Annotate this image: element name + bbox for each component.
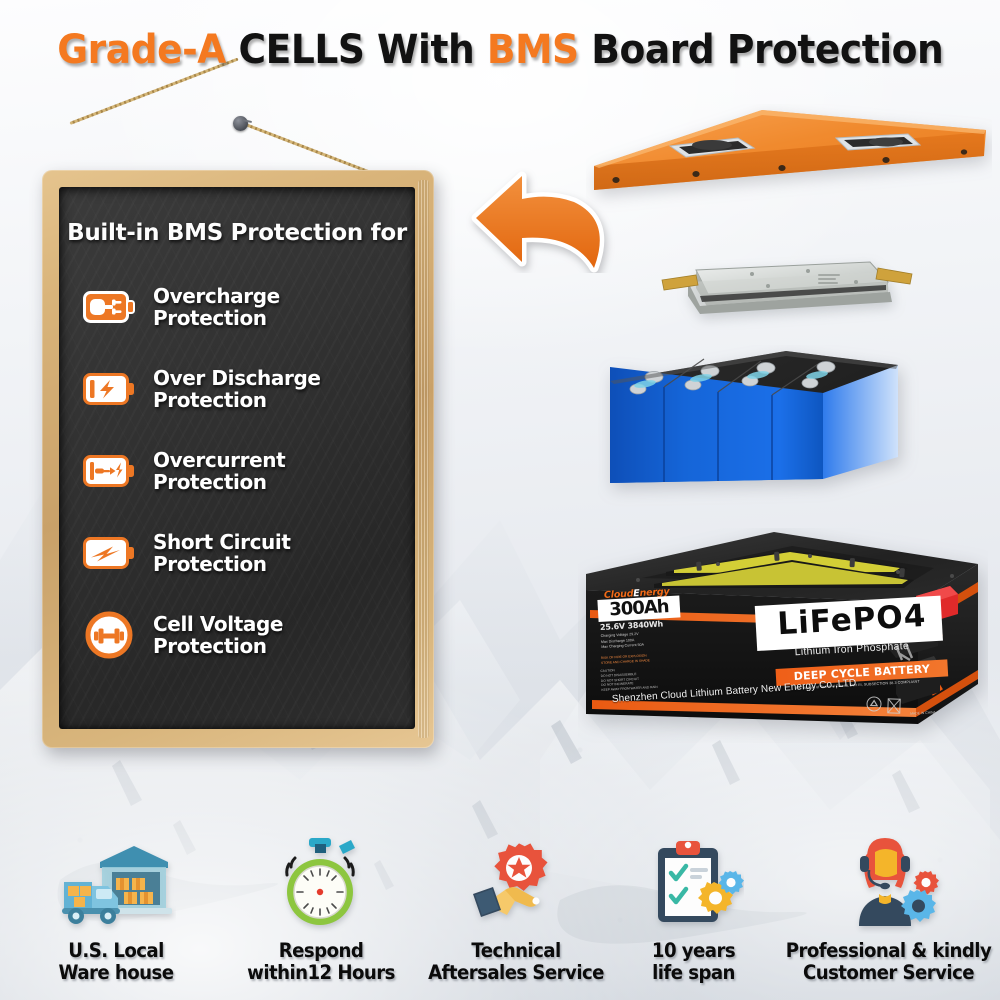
battery-capacity-value: 300Ah xyxy=(609,598,669,619)
protection-item-over-discharge: Over Discharge Protection xyxy=(59,348,415,430)
orange-bms-heatsink-plate xyxy=(586,104,992,214)
bottom-feature-warehouse: U.S. Local Ware house xyxy=(6,824,226,984)
battery-current-icon xyxy=(81,455,137,487)
bottom-feature-label: Respond within12 Hours xyxy=(233,940,410,984)
battery-bolt-icon xyxy=(81,373,137,405)
page-title: Grade-A CELLS With BMS Board Protection xyxy=(0,0,1000,100)
chalkboard-slate: Built-in BMS Protection for xyxy=(59,187,415,729)
protection-label: Overcurrent Protection xyxy=(153,449,285,494)
warehouse-truck-icon xyxy=(6,824,226,934)
chalkboard-panel: Built-in BMS Protection for xyxy=(40,108,440,748)
title-part-cells-with: CELLS With xyxy=(238,27,486,73)
headset-agent-icon xyxy=(771,824,1000,934)
bottom-feature-strip: U.S. Local Ware house xyxy=(0,800,1000,1000)
bottom-feature-label: 10 years life span xyxy=(621,940,765,984)
bottom-feature-respond: Respond within12 Hours xyxy=(226,824,416,984)
protection-item-overcurrent: Overcurrent Protection xyxy=(59,430,415,512)
bottom-feature-label: Professional & kindly Customer Service xyxy=(779,940,998,984)
title-part-board-protection: Board Protection xyxy=(578,27,943,73)
bottom-feature-customer-service: Professional & kindly Customer Service xyxy=(771,824,1000,984)
chalkboard-heading: Built-in BMS Protection for xyxy=(59,187,415,246)
protection-label: Over Discharge Protection xyxy=(153,367,321,412)
protection-feature-list: Overcharge Protection Over Discharge Pro… xyxy=(59,266,415,676)
bottom-feature-lifespan: 10 years life span xyxy=(616,824,771,984)
title-part-grade-a: Grade-A xyxy=(57,27,238,73)
protection-item-cell-voltage: Cell Voltage Protection xyxy=(59,594,415,676)
clipboard-checklist-icon xyxy=(616,824,771,934)
stopwatch-icon xyxy=(226,824,416,934)
curved-left-arrow-icon xyxy=(466,168,631,273)
battery-capacity-badge: 300Ah xyxy=(597,595,680,622)
protection-label: Overcharge Protection xyxy=(153,285,280,330)
battery-spec-extra: CAUTION DO NOT DISASSEMBLE DO NOT SHORT … xyxy=(600,665,675,693)
cell-voltage-icon xyxy=(81,611,137,659)
protection-label: Cell Voltage Protection xyxy=(153,613,283,658)
hanging-nail-icon xyxy=(233,116,248,131)
protection-label: Short Circuit Protection xyxy=(153,531,290,576)
battery-plug-icon xyxy=(81,291,137,323)
bottom-feature-label: U.S. Local Ware house xyxy=(14,940,219,984)
gear-hand-icon xyxy=(416,824,616,934)
title-part-bms: BMS xyxy=(487,27,579,73)
protection-item-short-circuit: Short Circuit Protection xyxy=(59,512,415,594)
chalkboard-wood-frame: Built-in BMS Protection for xyxy=(42,170,434,748)
battery-short-icon xyxy=(81,537,137,569)
protection-item-overcharge: Overcharge Protection xyxy=(59,266,415,348)
bottom-feature-technical: Technical Aftersales Service xyxy=(416,824,616,984)
lifepo4-battery-pack: CloudEnergy 300Ah 25.6V 3840Wh Charging … xyxy=(578,528,988,743)
prismatic-lifepo4-cells xyxy=(598,345,928,510)
bms-circuit-board xyxy=(640,252,930,330)
title-text: Grade-A CELLS With BMS Board Protection xyxy=(57,27,943,73)
bottom-feature-label: Technical Aftersales Service xyxy=(423,940,609,984)
